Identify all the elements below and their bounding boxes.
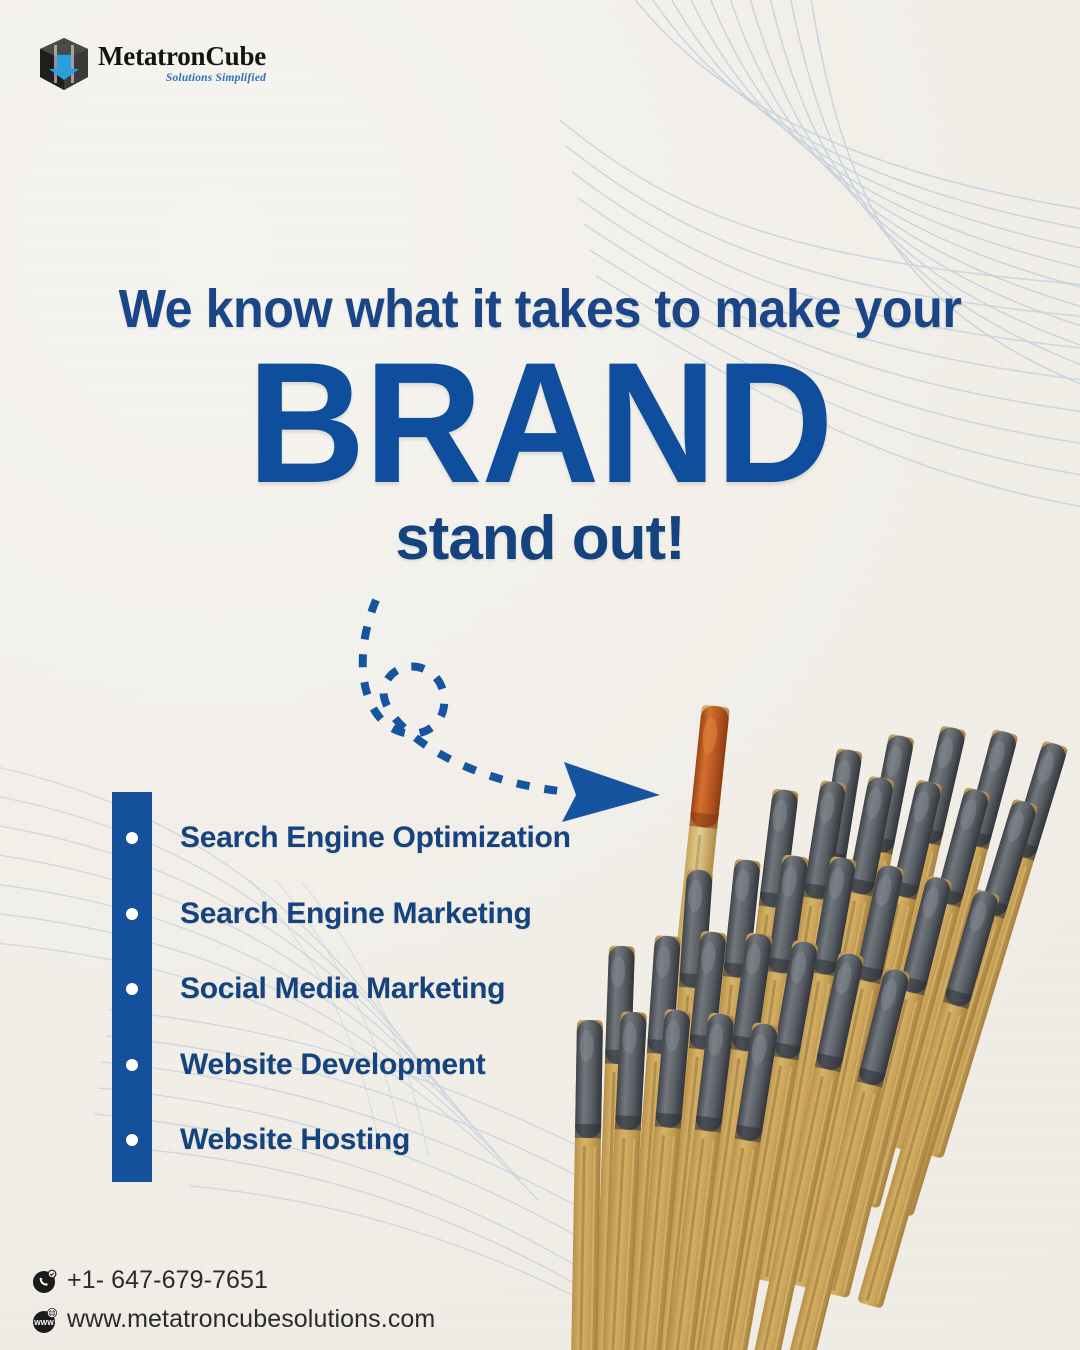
bullet-dot-icon (126, 832, 138, 844)
services-items: Search Engine Optimization Search Engine… (112, 792, 632, 1182)
service-label: Website Development (180, 1048, 486, 1082)
service-label: Social Media Marketing (180, 972, 505, 1006)
poster-canvas: MetatronCube Solutions Simplified We kno… (0, 0, 1080, 1350)
website-url: www.metatroncubesolutions.com (67, 1305, 435, 1334)
globe-icon: WWW (32, 1307, 58, 1333)
cube-arrow-icon (38, 36, 90, 92)
contact-footer: +1- 647-679-7651 WWW www.metatroncubesol… (32, 1266, 435, 1334)
svg-text:WWW: WWW (34, 1320, 54, 1327)
list-item[interactable]: Website Development (112, 1051, 632, 1079)
headline-block: We know what it takes to make your BRAND… (0, 282, 1080, 570)
bullet-dot-icon (126, 908, 138, 920)
service-label: Search Engine Marketing (180, 897, 532, 931)
bullet-dot-icon (126, 983, 138, 995)
service-label: Search Engine Optimization (180, 821, 571, 855)
logo-wordmark: MetatronCube Solutions Simplified (98, 43, 266, 85)
services-list: Search Engine Optimization Search Engine… (112, 792, 632, 1182)
bullet-dot-icon (126, 1134, 138, 1146)
website-row[interactable]: WWW www.metatroncubesolutions.com (32, 1305, 435, 1334)
list-item[interactable]: Website Hosting (112, 1126, 632, 1154)
list-item[interactable]: Social Media Marketing (112, 975, 632, 1003)
brand-logo[interactable]: MetatronCube Solutions Simplified (38, 36, 266, 92)
headline-brand-word: BRAND (27, 344, 1053, 502)
list-item[interactable]: Search Engine Optimization (112, 824, 632, 852)
logo-tagline: Solutions Simplified (98, 73, 266, 85)
list-item[interactable]: Search Engine Marketing (112, 900, 632, 928)
phone-number: +1- 647-679-7651 (67, 1266, 268, 1295)
phone-row[interactable]: +1- 647-679-7651 (32, 1266, 435, 1295)
logo-name: MetatronCube (98, 43, 266, 70)
phone-icon (32, 1268, 58, 1294)
service-label: Website Hosting (180, 1123, 410, 1157)
bullet-dot-icon (126, 1059, 138, 1071)
